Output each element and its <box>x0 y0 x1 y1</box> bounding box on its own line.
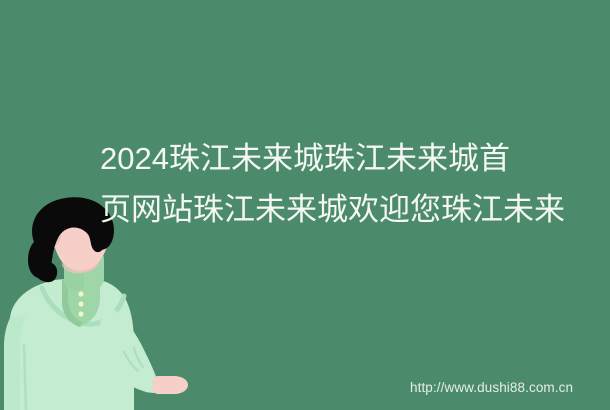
promo-banner: 2024珠江未来城珠江未来城首 页网站珠江未来城欢迎您珠江未来 http://w… <box>0 0 610 410</box>
hand <box>152 376 188 394</box>
watermark-url: http://www.dushi88.com.cn <box>410 379 573 396</box>
page-title: 2024珠江未来城珠江未来城首 页网站珠江未来城欢迎您珠江未来 <box>100 133 610 235</box>
headline-line-2: 页网站珠江未来城欢迎您珠江未来 <box>100 184 610 235</box>
collar-buttons <box>78 291 83 316</box>
headline-line-1: 2024珠江未来城珠江未来城首 <box>100 133 610 184</box>
